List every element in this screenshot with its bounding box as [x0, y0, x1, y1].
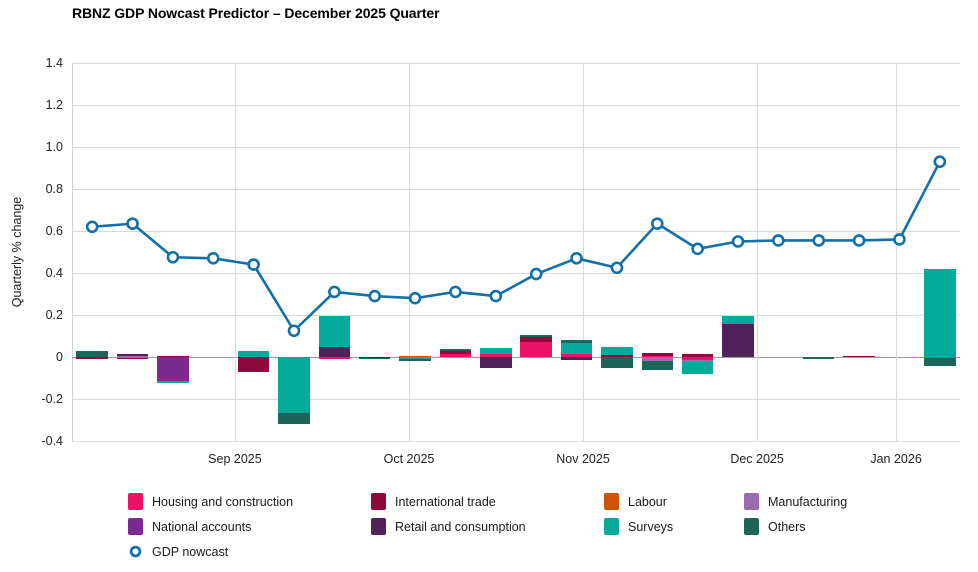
legend-label: Housing and construction	[152, 495, 293, 509]
nowcast-marker[interactable]	[329, 287, 339, 297]
legend-swatch	[128, 493, 143, 510]
y-axis-label-text: Quarterly % change	[10, 197, 24, 307]
nowcast-marker[interactable]	[87, 222, 97, 232]
legend-item[interactable]: Surveys	[604, 518, 744, 535]
nowcast-marker[interactable]	[652, 219, 662, 229]
nowcast-marker[interactable]	[693, 244, 703, 254]
y-tick-label: 1.2	[46, 98, 63, 112]
legend-label: GDP nowcast	[152, 545, 228, 559]
legend-item[interactable]: Housing and construction	[128, 493, 371, 510]
legend-row: Housing and constructionInternational tr…	[128, 489, 968, 514]
nowcast-marker[interactable]	[733, 237, 743, 247]
y-tick-label: 1.4	[46, 56, 63, 70]
nowcast-marker[interactable]	[854, 235, 864, 245]
nowcast-marker[interactable]	[814, 235, 824, 245]
y-tick-label: -0.4	[41, 434, 63, 448]
y-tick-label: 0.8	[46, 182, 63, 196]
nowcast-marker[interactable]	[289, 326, 299, 336]
legend-label: Surveys	[628, 520, 673, 534]
legend-item[interactable]: Retail and consumption	[371, 518, 604, 535]
x-tick-label: Sep 2025	[208, 452, 262, 466]
legend-item[interactable]: Manufacturing	[744, 493, 924, 510]
nowcast-marker[interactable]	[491, 291, 501, 301]
y-tick-label: 0.2	[46, 308, 63, 322]
legend-item[interactable]: GDP nowcast	[128, 543, 371, 560]
legend-swatch	[744, 518, 759, 535]
y-tick-label: 1.0	[46, 140, 63, 154]
legend-item[interactable]: Others	[744, 518, 924, 535]
gdp-nowcast-line	[72, 63, 960, 441]
x-tick-label: Nov 2025	[556, 452, 610, 466]
nowcast-marker[interactable]	[249, 260, 259, 270]
nowcast-marker[interactable]	[370, 291, 380, 301]
gridline-y--0.4	[72, 441, 960, 442]
y-tick-label: 0	[56, 350, 63, 364]
y-tick-label: 0.4	[46, 266, 63, 280]
nowcast-marker[interactable]	[208, 253, 218, 263]
legend-label: International trade	[395, 495, 496, 509]
legend-label: Manufacturing	[768, 495, 847, 509]
legend-swatch	[128, 518, 143, 535]
nowcast-marker[interactable]	[894, 234, 904, 244]
legend-label: Labour	[628, 495, 667, 509]
legend-swatch	[744, 493, 759, 510]
nowcast-marker[interactable]	[531, 269, 541, 279]
nowcast-marker[interactable]	[450, 287, 460, 297]
legend-label: Others	[768, 520, 806, 534]
chart-title: RBNZ GDP Nowcast Predictor – December 20…	[72, 5, 439, 21]
legend-label: Retail and consumption	[395, 520, 526, 534]
legend-swatch	[371, 518, 386, 535]
nowcast-marker[interactable]	[572, 253, 582, 263]
legend-item[interactable]: National accounts	[128, 518, 371, 535]
legend-swatch	[604, 493, 619, 510]
x-tick-label: Jan 2026	[870, 452, 921, 466]
x-tick-label: Dec 2025	[730, 452, 784, 466]
nowcast-marker[interactable]	[935, 157, 945, 167]
nowcast-marker[interactable]	[773, 235, 783, 245]
nowcast-marker[interactable]	[128, 219, 138, 229]
plot-area: 1.41.21.00.80.60.40.20-0.2-0.4 Sep 2025O…	[72, 63, 960, 441]
legend-row: National accountsRetail and consumptionS…	[128, 514, 968, 539]
y-axis-label: Quarterly % change	[8, 63, 26, 441]
y-tick-label: 0.6	[46, 224, 63, 238]
nowcast-polyline	[92, 162, 940, 331]
legend-label: National accounts	[152, 520, 251, 534]
x-tick-label: Oct 2025	[384, 452, 435, 466]
legend-swatch	[371, 493, 386, 510]
chart-legend: Housing and constructionInternational tr…	[128, 489, 968, 564]
chart-container: RBNZ GDP Nowcast Predictor – December 20…	[0, 0, 978, 572]
nowcast-marker[interactable]	[168, 252, 178, 262]
legend-item[interactable]: Labour	[604, 493, 744, 510]
y-tick-label: -0.2	[41, 392, 63, 406]
legend-item[interactable]: International trade	[371, 493, 604, 510]
legend-swatch	[604, 518, 619, 535]
legend-row: GDP nowcast	[128, 539, 968, 564]
nowcast-marker[interactable]	[410, 293, 420, 303]
nowcast-marker[interactable]	[612, 263, 622, 273]
nowcast-marker-icon	[128, 543, 143, 560]
